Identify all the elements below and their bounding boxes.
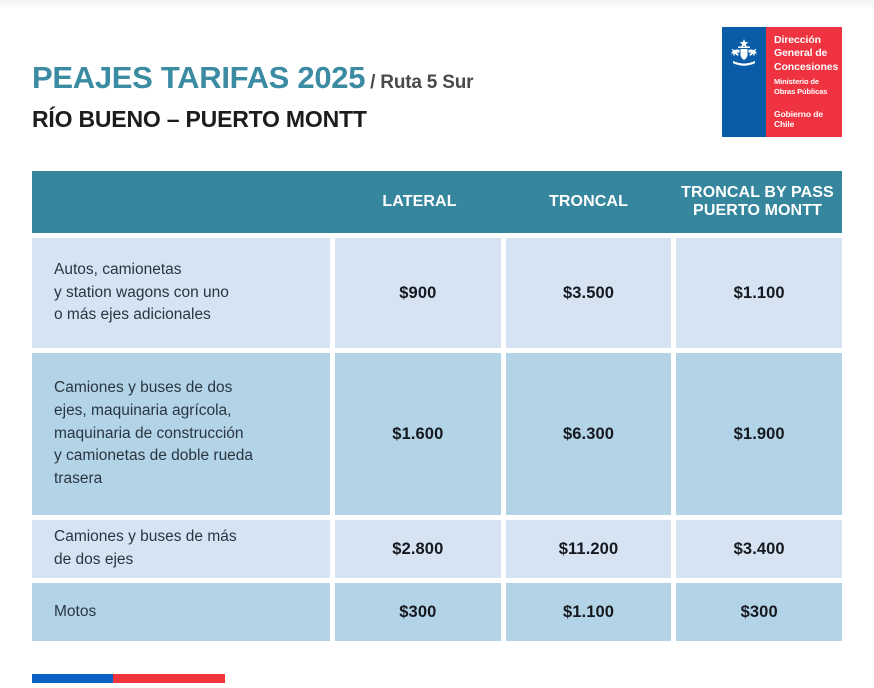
logo-agency-line3: Concesiones [774,61,838,74]
row-category-label: Motos [32,583,330,641]
row-category-line: o más ejes adicionales [54,304,229,327]
column-header-troncal-bypass: TRONCAL BY PASS PUERTO MONTT [673,184,842,221]
cell-troncal-price: $1.100 [506,583,672,641]
column-header-troncal-bypass-line1: TRONCAL BY PASS [677,184,838,202]
tariff-table: LATERAL TRONCAL TRONCAL BY PASS PUERTO M… [32,171,842,641]
cell-troncal-bypass-price: $300 [676,583,842,641]
footer-flag-bar [32,674,225,683]
footer-flag-blue-segment [32,674,113,683]
logo-agency-line1: Dirección [774,34,838,47]
logo-agency-name: Dirección General de Concesiones [774,34,838,74]
page-subtitle-section: RÍO BUENO – PUERTO MONTT [32,106,712,133]
page-title-main: PEAJES TARIFAS 2025 [32,60,365,95]
row-category-line: Autos, camionetas [54,259,229,282]
logo-ministry-line1: Ministerio de [774,77,827,87]
cell-lateral-price: $1.600 [335,353,501,515]
row-category-line: trasera [54,468,253,491]
row-category-label: Camiones y buses de dos ejes, maquinaria… [32,353,330,515]
row-category-line: ejes, maquinaria agrícola, [54,400,253,423]
logo-red-panel: Dirección General de Concesiones Ministe… [766,27,842,137]
logo-government-label: Gobierno de Chile [774,109,842,129]
cell-troncal-bypass-price: $1.900 [676,353,842,515]
tariff-poster: PEAJES TARIFAS 2025/ Ruta 5 Sur RÍO BUEN… [0,0,874,688]
cell-lateral-price: $900 [335,238,501,348]
table-row: Camiones y buses de más de dos ejes $2.8… [32,520,842,578]
row-category-line: de dos ejes [54,549,237,572]
logo-ministry-line2: Obras Públicas [774,87,827,97]
column-header-lateral: LATERAL [335,193,504,211]
row-category-line: maquinaria de construcción [54,423,253,446]
column-header-troncal-bypass-line2: PUERTO MONTT [677,202,838,220]
row-category-line: Motos [54,601,96,624]
page-header: PEAJES TARIFAS 2025/ Ruta 5 Sur RÍO BUEN… [32,62,712,133]
chile-coat-of-arms-icon [728,38,760,68]
institution-logo: Dirección General de Concesiones Ministe… [722,27,842,137]
column-header-troncal: TRONCAL [504,193,673,211]
row-category-line: y station wagons con uno [54,282,229,305]
row-category-line: y camionetas de doble rueda [54,445,253,468]
page-title: PEAJES TARIFAS 2025/ Ruta 5 Sur [32,62,712,93]
cell-lateral-price: $300 [335,583,501,641]
cell-troncal-price: $6.300 [506,353,672,515]
table-row: Camiones y buses de dos ejes, maquinaria… [32,353,842,515]
logo-agency-line2: General de [774,47,838,60]
table-row: Autos, camionetas y station wagons con u… [32,238,842,348]
cell-troncal-bypass-price: $1.100 [676,238,842,348]
cell-troncal-price: $3.500 [506,238,672,348]
row-category-label: Camiones y buses de más de dos ejes [32,520,330,578]
logo-blue-panel [722,27,766,137]
logo-ministry-name: Ministerio de Obras Públicas [774,77,827,97]
row-category-line: Camiones y buses de más [54,526,237,549]
row-category-line: Camiones y buses de dos [54,377,253,400]
footer-flag-red-segment [113,674,225,683]
cell-lateral-price: $2.800 [335,520,501,578]
row-category-label: Autos, camionetas y station wagons con u… [32,238,330,348]
page-title-route: / Ruta 5 Sur [370,72,473,93]
table-row: Motos $300 $1.100 $300 [32,583,842,641]
cell-troncal-price: $11.200 [506,520,672,578]
cell-troncal-bypass-price: $3.400 [676,520,842,578]
table-header-row: LATERAL TRONCAL TRONCAL BY PASS PUERTO M… [32,171,842,233]
